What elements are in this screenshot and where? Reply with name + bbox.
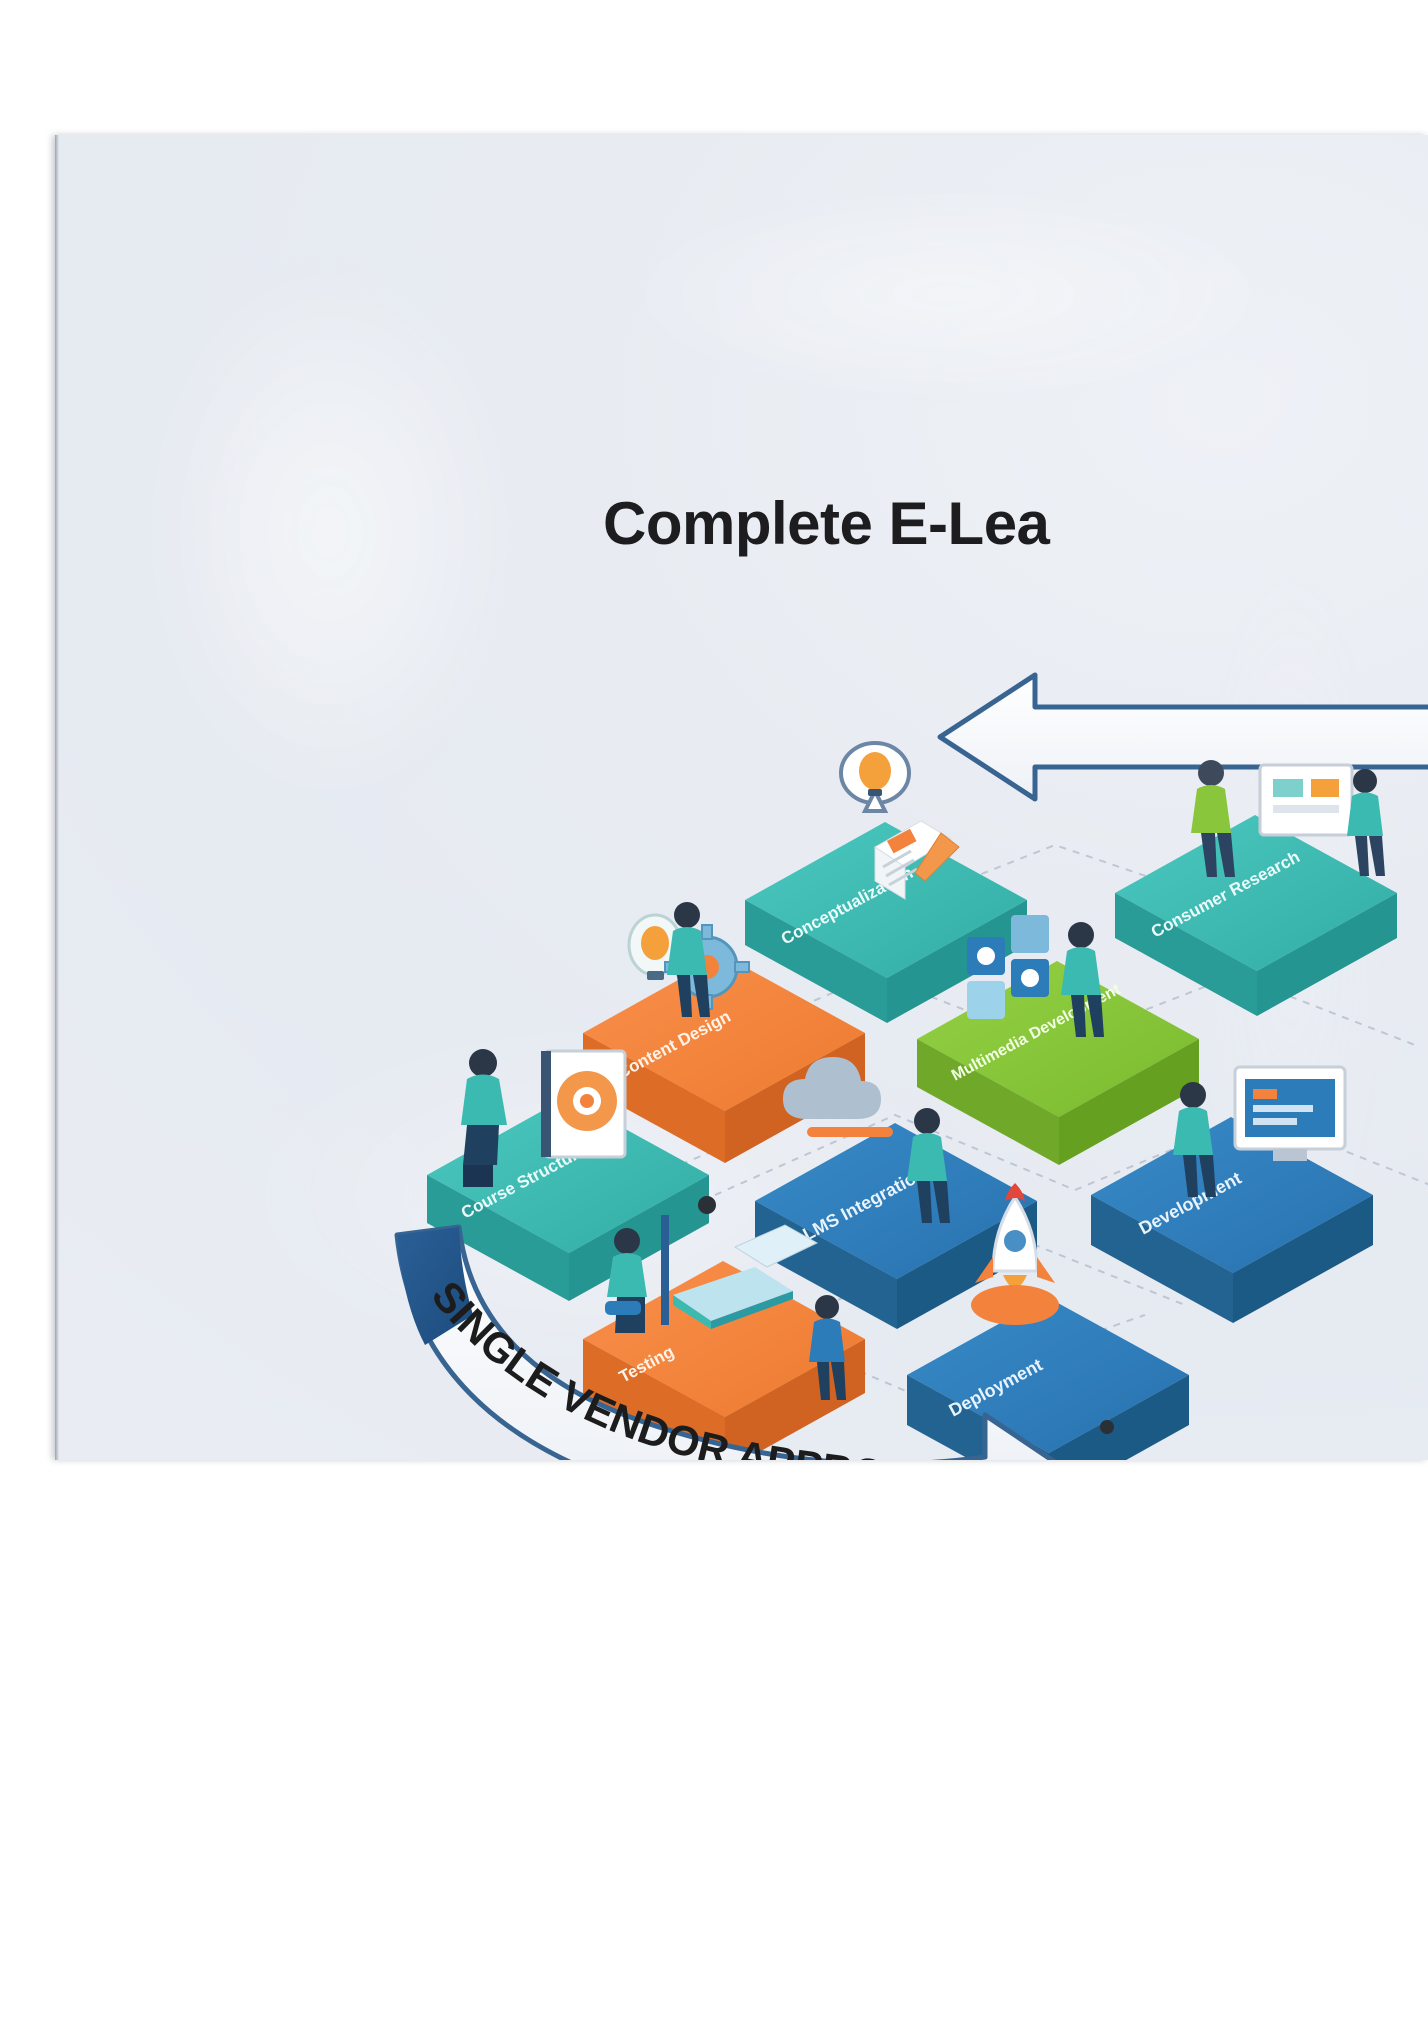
diagram-svg: Conceptualization [355,615,1428,1460]
connector-node-dot [1100,1420,1114,1434]
block-consumer-research[interactable]: Consumer Research [1115,760,1397,1016]
lightbulb-pin-icon [841,743,909,811]
screenshot-viewport: Complete E-Lea [0,0,1428,2018]
isometric-diagram: Conceptualization [355,615,1428,1460]
connector-node-dot [698,1196,716,1214]
page-title: Complete E-Lea [603,490,1428,557]
slide-page: Complete E-Lea [55,135,1428,1460]
